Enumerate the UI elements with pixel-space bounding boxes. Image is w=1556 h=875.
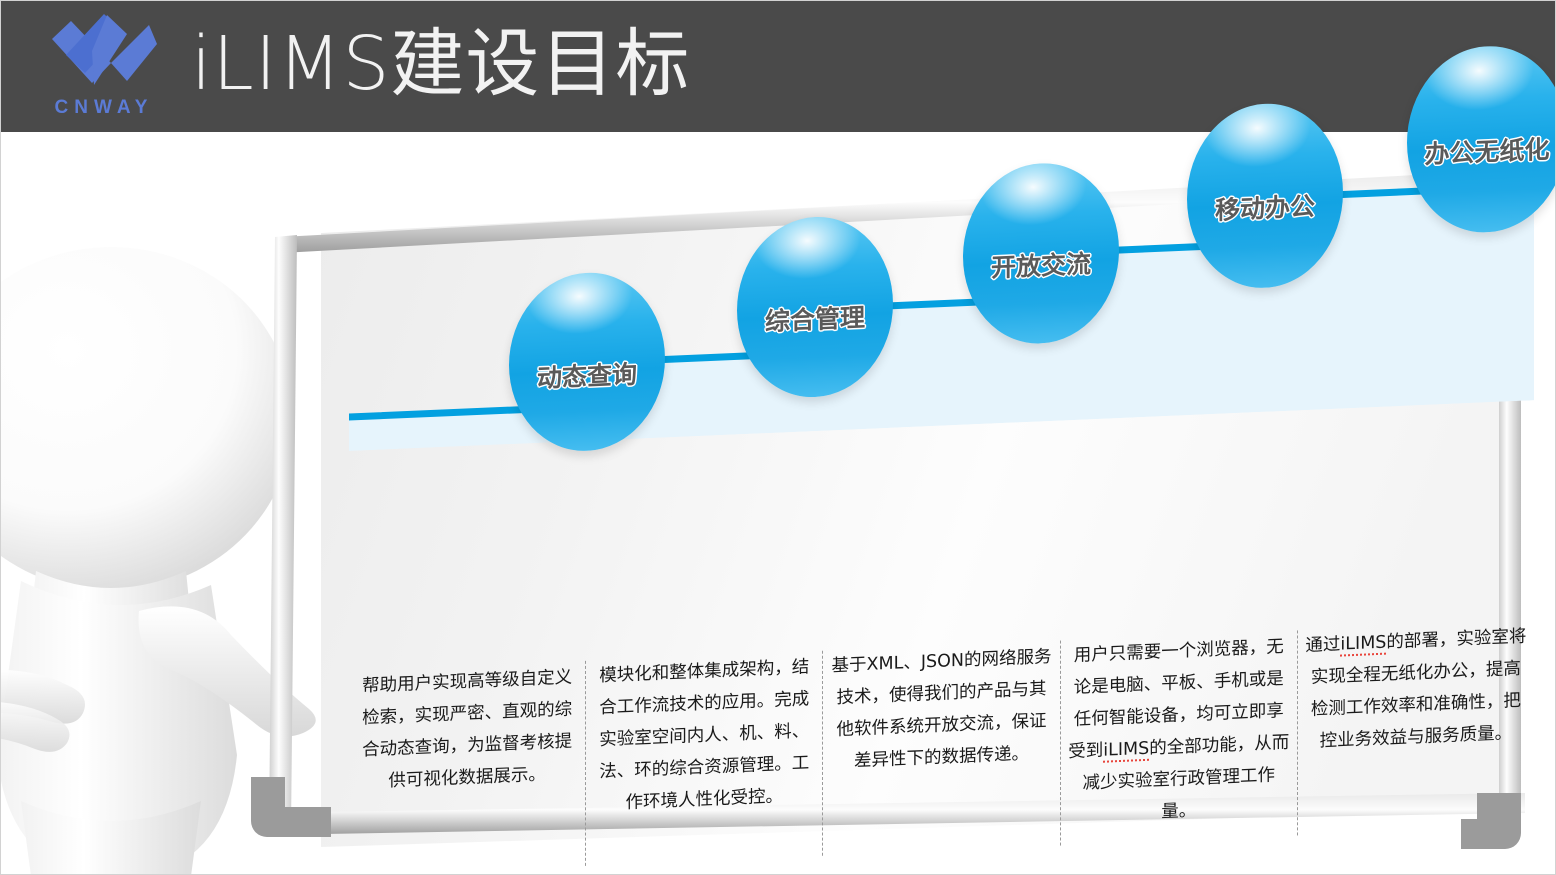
whiteboard: 动态查询 综合管理 开放交流 移动办公 办公无纸化 帮助用户实现高等级自定义检索… bbox=[229, 141, 1556, 871]
board-content: 动态查询 综合管理 开放交流 移动办公 办公无纸化 帮助用户实现高等级自定义检索… bbox=[349, 170, 1539, 871]
description-column-4: 用户只需要一个浏览器，无论是电脑、平板、手机或是任何智能设备，均可立即享受到iL… bbox=[1060, 630, 1297, 845]
description-text-2: 模块化和整体集成架构，结合工作流技术的应用。完成实验室空间内人、机、料、法、环的… bbox=[592, 651, 816, 821]
description-column-3: 基于XML、JSON的网络服务技术，使得我们的产品与其他软件系统开放交流，保证差… bbox=[822, 641, 1059, 856]
description-text-4: 用户只需要一个浏览器，无论是电脑、平板、手机或是任何智能设备，均可立即享受到iL… bbox=[1067, 631, 1291, 833]
description-column-2: 模块化和整体集成架构，结合工作流技术的应用。完成实验室空间内人、机、料、法、环的… bbox=[585, 651, 822, 866]
logo-wordmark: CNWAY bbox=[43, 97, 165, 119]
slide-canvas: CNWAY iLIMS建设目标 bbox=[0, 0, 1556, 875]
description-text-1: 帮助用户实现高等级自定义检索，实现严密、直观的综合动态查询，为监督考核提供可视化… bbox=[355, 661, 579, 799]
step-bubble-4-label: 移动办公 bbox=[1215, 187, 1315, 227]
logo: CNWAY bbox=[43, 9, 165, 127]
cnway-logo-icon bbox=[49, 11, 159, 91]
misspelled-word-ilims-2: iLIMS bbox=[1340, 633, 1386, 657]
description-column-5: 通过iLIMS的部署，实验室将实现全程无纸化办公，提高检测工作效率和准确性，把控… bbox=[1297, 620, 1534, 835]
description-text-5-before: 通过 bbox=[1305, 635, 1340, 656]
description-text-5: 通过iLIMS的部署，实验室将实现全程无纸化办公，提高检测工作效率和准确性，把控… bbox=[1304, 621, 1528, 759]
slide-header: CNWAY iLIMS建设目标 bbox=[1, 1, 1556, 132]
misspelled-word-ilims-1: iLIMS bbox=[1103, 739, 1149, 763]
description-column-1: 帮助用户实现高等级自定义检索，实现严密、直观的综合动态查询，为监督考核提供可视化… bbox=[349, 661, 585, 875]
page-title: iLIMS建设目标 bbox=[191, 9, 690, 119]
step-bubble-2-label: 综合管理 bbox=[765, 298, 865, 338]
step-bubble-5-label: 办公无纸化 bbox=[1424, 130, 1549, 171]
step-bubble-1-label: 动态查询 bbox=[537, 355, 637, 395]
description-text-3: 基于XML、JSON的网络服务技术，使得我们的产品与其他软件系统开放交流，保证差… bbox=[829, 641, 1053, 779]
step-bubble-3-label: 开放交流 bbox=[991, 244, 1091, 284]
